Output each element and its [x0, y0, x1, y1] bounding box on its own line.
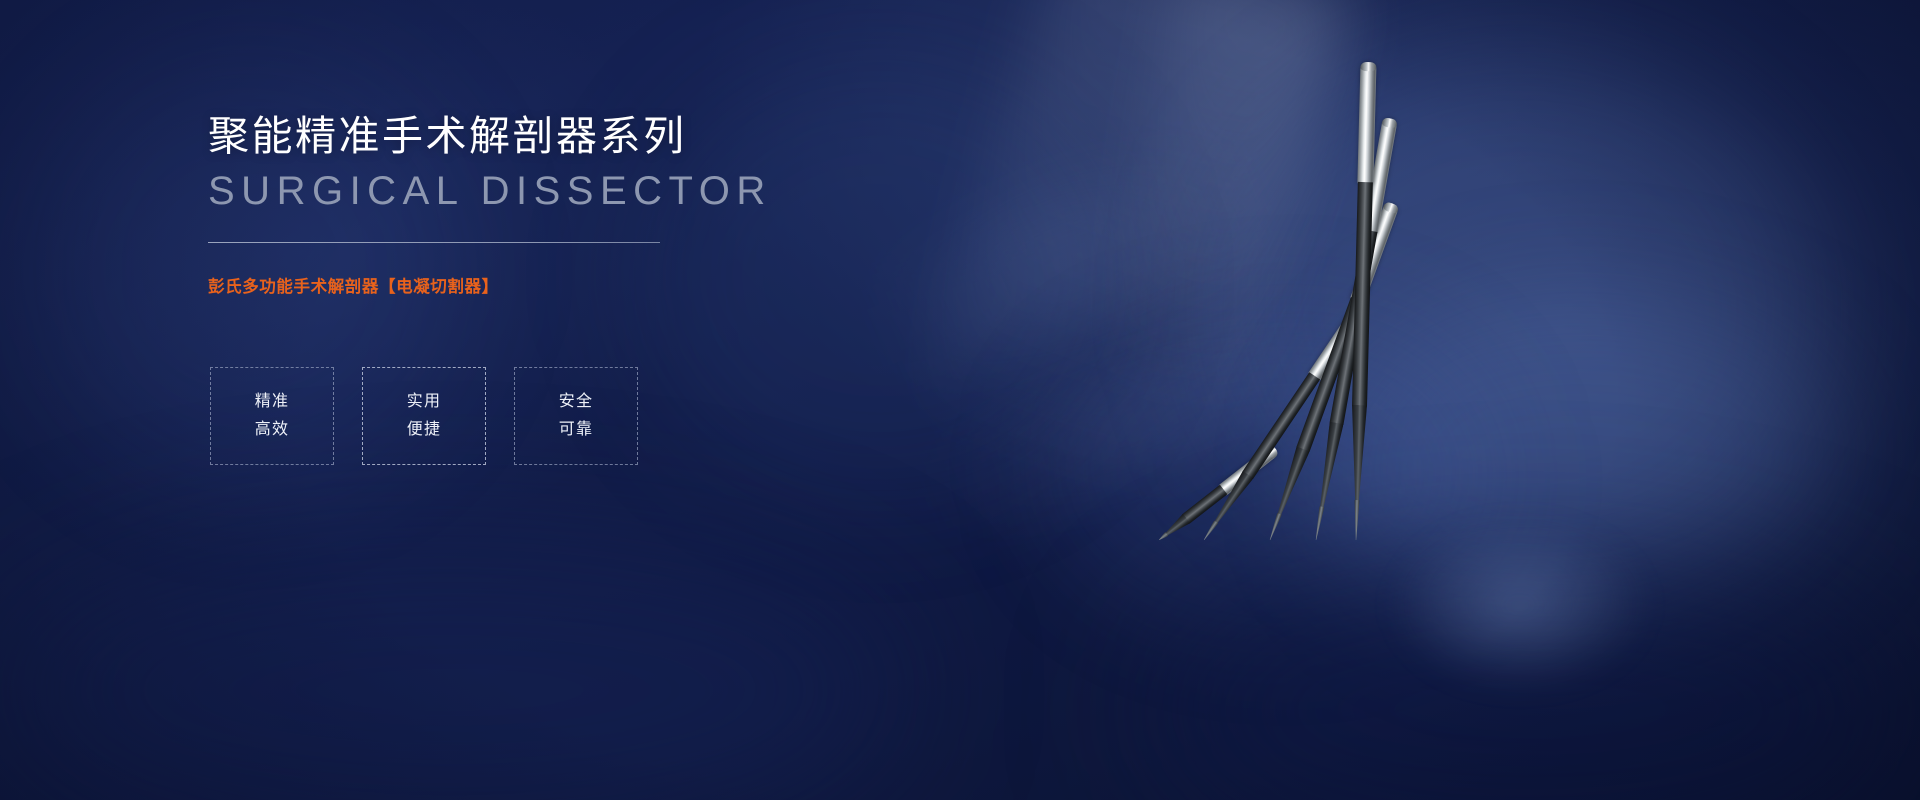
- page-title: 聚能精准手术解剖器系列: [208, 112, 848, 160]
- title-divider: [208, 242, 660, 243]
- feature-badge-3-line2: 可靠: [559, 416, 593, 444]
- feature-badge-3-line1: 安全: [559, 388, 593, 416]
- feature-badge-2-line1: 实用: [407, 388, 441, 416]
- product-name-label: 彭氏多功能手术解剖器【电凝切割器】: [208, 273, 848, 297]
- page-subtitle-english: SURGICAL DISSECTOR: [208, 169, 848, 213]
- feature-badge-3[interactable]: 安全 可靠: [514, 367, 638, 465]
- feature-badge-2-line2: 便捷: [407, 416, 441, 444]
- feature-badge-1[interactable]: 精准 高效: [210, 367, 334, 465]
- feature-badge-1-line1: 精准: [255, 388, 289, 416]
- banner-text-block: 聚能精准手术解剖器系列 SURGICAL DISSECTOR 彭氏多功能手术解剖…: [208, 112, 848, 297]
- feature-badges: 精准 高效 实用 便捷 安全 可靠: [210, 367, 638, 465]
- hero-banner: 聚能精准手术解剖器系列 SURGICAL DISSECTOR 彭氏多功能手术解剖…: [0, 0, 1920, 800]
- feature-badge-1-line2: 高效: [255, 416, 289, 444]
- feature-badge-2[interactable]: 实用 便捷: [362, 367, 486, 465]
